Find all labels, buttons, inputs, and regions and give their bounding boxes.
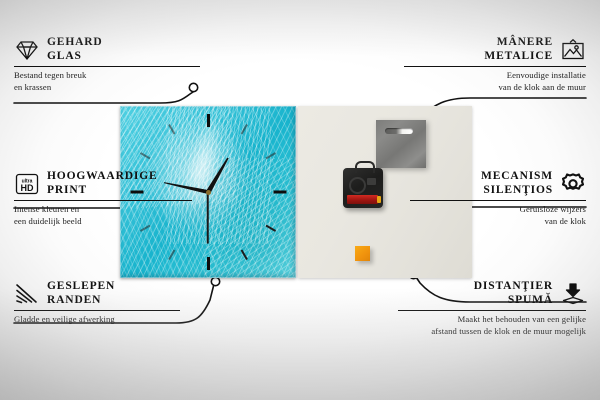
callout-title: HOOGWAARDIGE PRINT bbox=[47, 170, 158, 197]
callout-hoogwaardige-print: ultra HD HOOGWAARDIGE PRINT Intense kleu… bbox=[14, 170, 192, 227]
callout-desc-line1: Gladde en veilige afwerking bbox=[14, 314, 115, 324]
callout-title-line1: GESLEPEN bbox=[47, 280, 115, 292]
mechanism-dial bbox=[349, 177, 366, 194]
callout-desc-line2: een duidelijk beeld bbox=[14, 216, 82, 226]
callout-description: Gladde en veilige afwerking bbox=[14, 314, 180, 326]
mechanism-shaft bbox=[367, 178, 376, 185]
callout-title-line2: SPUMĂ bbox=[508, 294, 553, 306]
callout-desc-line2: en krassen bbox=[14, 82, 51, 92]
callout-title-line2: RANDEN bbox=[47, 294, 101, 306]
gear-icon bbox=[560, 172, 586, 196]
callout-desc-line2: afstand tussen de klok en de muur mogeli… bbox=[431, 326, 586, 336]
callout-title-line1: DISTANŢIER bbox=[474, 280, 553, 292]
hanger-slot bbox=[385, 128, 413, 134]
callout-title: MECANISM SILENŢIOS bbox=[481, 170, 553, 197]
clock-mechanism bbox=[343, 168, 383, 208]
callout-rule bbox=[14, 200, 192, 201]
diagonal-lines-icon bbox=[14, 282, 40, 306]
callout-title: GESLEPEN RANDEN bbox=[47, 280, 115, 307]
callout-manere-metalice: MÂNERE METALICE Eenvoudige installatie v… bbox=[404, 36, 586, 93]
callout-gehard-glas: GEHARD GLAS Bestand tegen breuk en krass… bbox=[14, 36, 200, 93]
callout-title: DISTANŢIER SPUMĂ bbox=[474, 280, 553, 307]
svg-text:HD: HD bbox=[21, 183, 34, 193]
callout-title-line2: SILENŢIOS bbox=[483, 184, 553, 196]
callout-desc-line2: van de klok bbox=[545, 216, 586, 226]
callout-desc-line1: Bestand tegen breuk bbox=[14, 70, 86, 80]
callout-title-line2: GLAS bbox=[47, 50, 82, 62]
callout-desc-line2: van de klok aan de muur bbox=[499, 82, 586, 92]
callout-title-line1: MECANISM bbox=[481, 170, 553, 182]
callout-title-line2: PRINT bbox=[47, 184, 87, 196]
callout-title-line1: GEHARD bbox=[47, 36, 103, 48]
callout-header: GEHARD GLAS bbox=[14, 36, 200, 63]
hanger-loop bbox=[355, 161, 375, 173]
callout-title-line1: HOOGWAARDIGE bbox=[47, 170, 158, 182]
foam-spacer bbox=[355, 246, 370, 261]
callout-description: Eenvoudige installatie van de klok aan d… bbox=[404, 70, 586, 93]
callout-title-line2: METALICE bbox=[484, 50, 553, 62]
diamond-icon bbox=[14, 38, 40, 62]
battery bbox=[347, 195, 378, 204]
infographic-canvas: GEHARD GLAS Bestand tegen breuk en krass… bbox=[0, 0, 600, 400]
metal-hanger-plate bbox=[376, 120, 426, 168]
callout-rule bbox=[404, 66, 586, 67]
callout-desc-line1: Intense kleuren en bbox=[14, 204, 79, 214]
callout-geslepen-randen: GESLEPEN RANDEN Gladde en veilige afwerk… bbox=[14, 280, 180, 326]
callout-description: Geruisloze wijzers van de klok bbox=[410, 204, 586, 227]
callout-description: Maakt het behouden van een gelijke afsta… bbox=[398, 314, 586, 337]
ultra-hd-icon: ultra HD bbox=[14, 172, 40, 196]
callout-header: MECANISM SILENŢIOS bbox=[410, 170, 586, 197]
callout-title-line1: MÂNERE bbox=[497, 36, 553, 48]
callout-desc-line1: Maakt het behouden van een gelijke bbox=[458, 314, 586, 324]
callout-title: MÂNERE METALICE bbox=[484, 36, 553, 63]
picture-frame-hook-icon bbox=[560, 38, 586, 62]
callout-header: GESLEPEN RANDEN bbox=[14, 280, 180, 307]
callout-desc-line1: Eenvoudige installatie bbox=[507, 70, 586, 80]
battery-cap bbox=[377, 196, 381, 203]
callout-rule bbox=[14, 66, 200, 67]
callout-rule bbox=[398, 310, 586, 311]
callout-rule bbox=[410, 200, 586, 201]
callout-distantier-spuma: DISTANŢIER SPUMĂ Maakt het behouden van … bbox=[398, 280, 586, 337]
callout-description: Intense kleuren en een duidelijk beeld bbox=[14, 204, 192, 227]
callout-header: DISTANŢIER SPUMĂ bbox=[398, 280, 586, 307]
callout-header: MÂNERE METALICE bbox=[404, 36, 586, 63]
callout-rule bbox=[14, 310, 180, 311]
callout-header: ultra HD HOOGWAARDIGE PRINT bbox=[14, 170, 192, 197]
connector-endpoint-randen bbox=[211, 277, 219, 285]
callout-mecanism-silentios: MECANISM SILENŢIOS Geruisloze wijzers va… bbox=[410, 170, 586, 227]
callout-description: Bestand tegen breuk en krassen bbox=[14, 70, 200, 93]
callout-title: GEHARD GLAS bbox=[47, 36, 103, 63]
callout-desc-line1: Geruisloze wijzers bbox=[520, 204, 586, 214]
down-arrow-plate-icon bbox=[560, 282, 586, 306]
